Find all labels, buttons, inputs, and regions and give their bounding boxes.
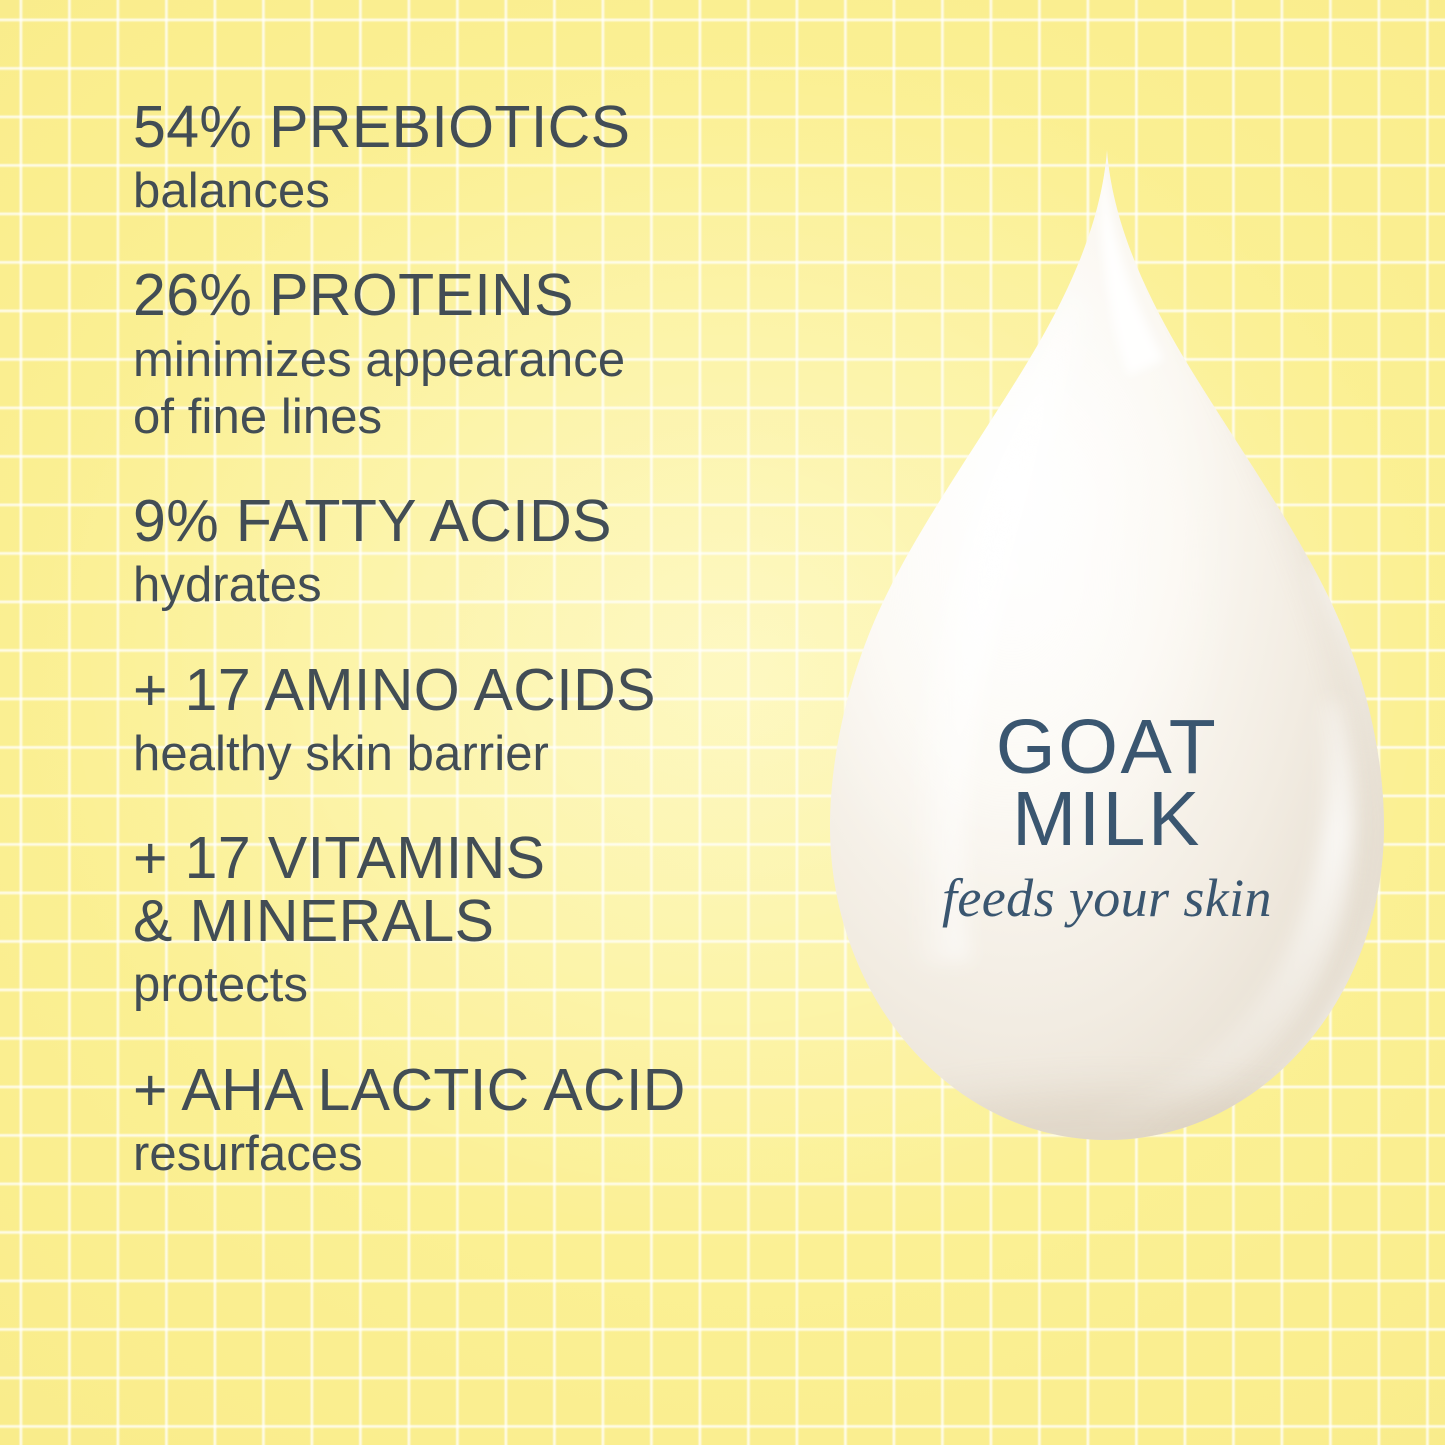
droplet-soft-light: [802, 240, 1222, 900]
droplet-icon: [812, 140, 1402, 1160]
fact-item: + 17 VITAMINS & MINERALS protects: [133, 827, 833, 1015]
fact-item: + 17 AMINO ACIDS healthy skin barrier: [133, 659, 833, 783]
fact-subtext: healthy skin barrier: [133, 726, 833, 783]
fact-headline: 54% PREBIOTICS: [133, 96, 833, 159]
ingredient-fact-list: 54% PREBIOTICS balances 26% PROTEINS min…: [133, 96, 833, 1183]
fact-subtext: hydrates: [133, 557, 833, 614]
fact-headline: 26% PROTEINS: [133, 264, 833, 327]
fact-headline: + AHA LACTIC ACID: [133, 1059, 833, 1122]
fact-subtext: protects: [133, 957, 833, 1014]
fact-headline: + 17 AMINO ACIDS: [133, 659, 833, 722]
milk-droplet: GOAT MILK feeds your skin: [812, 140, 1402, 1160]
fact-headline: + 17 VITAMINS & MINERALS: [133, 827, 833, 953]
fact-subtext: resurfaces: [133, 1126, 833, 1183]
fact-item: 9% FATTY ACIDS hydrates: [133, 490, 833, 614]
fact-subtext: minimizes appearance of fine lines: [133, 332, 833, 447]
infographic-canvas: 54% PREBIOTICS balances 26% PROTEINS min…: [0, 0, 1445, 1445]
fact-item: + AHA LACTIC ACID resurfaces: [133, 1059, 833, 1183]
fact-item: 54% PREBIOTICS balances: [133, 96, 833, 220]
fact-item: 26% PROTEINS minimizes appearance of fin…: [133, 264, 833, 446]
fact-headline: 9% FATTY ACIDS: [133, 490, 833, 553]
fact-subtext: balances: [133, 163, 833, 220]
